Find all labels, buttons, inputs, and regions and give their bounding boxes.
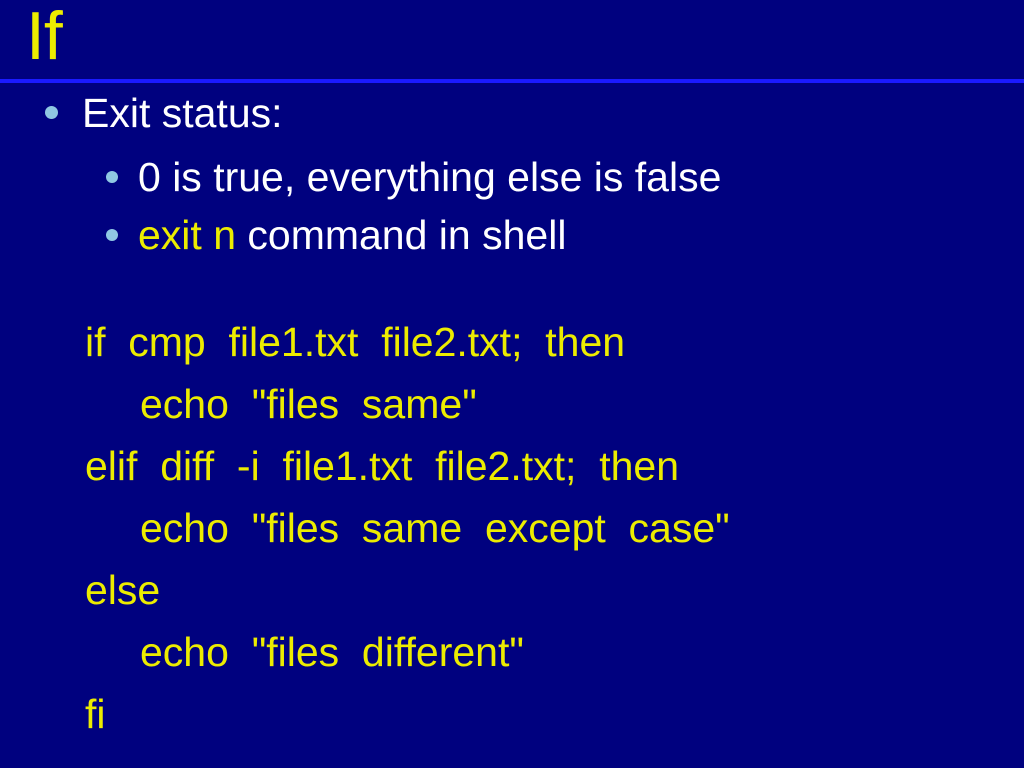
- slide: If Exit status: 0 is true, everything el…: [0, 0, 1024, 768]
- inline-code-exit-n: exit n: [138, 212, 236, 258]
- bullet-level2-zero-is-true: 0 is true, everything else is false: [0, 148, 1024, 206]
- bullet-level2-exit-n: exit n command in shell: [0, 206, 1024, 264]
- slide-body: Exit status: 0 is true, everything else …: [0, 86, 1024, 264]
- code-line: echo "files same": [0, 373, 1024, 435]
- code-line: elif diff -i file1.txt file2.txt; then: [0, 435, 1024, 497]
- title-divider: [0, 79, 1024, 83]
- bullet-level2-label: exit n command in shell: [138, 212, 566, 258]
- code-line: echo "files same except case": [0, 497, 1024, 559]
- bullet-level2-label-rest: command in shell: [236, 212, 566, 258]
- code-block: if cmp file1.txt file2.txt; then echo "f…: [0, 311, 1024, 745]
- code-line: echo "files different": [0, 621, 1024, 683]
- slide-title-area: If: [0, 0, 1024, 80]
- page-title: If: [26, 0, 62, 76]
- bullet-level1-exit-status: Exit status:: [0, 86, 1024, 140]
- bullet-dot-icon: [106, 171, 118, 183]
- bullet-level1-label: Exit status:: [82, 90, 283, 136]
- code-line: if cmp file1.txt file2.txt; then: [0, 311, 1024, 373]
- bullet-dot-icon: [106, 229, 118, 241]
- code-line: fi: [0, 683, 1024, 745]
- bullet-level2-label: 0 is true, everything else is false: [138, 154, 721, 200]
- code-line: else: [0, 559, 1024, 621]
- bullet-dot-icon: [45, 106, 58, 119]
